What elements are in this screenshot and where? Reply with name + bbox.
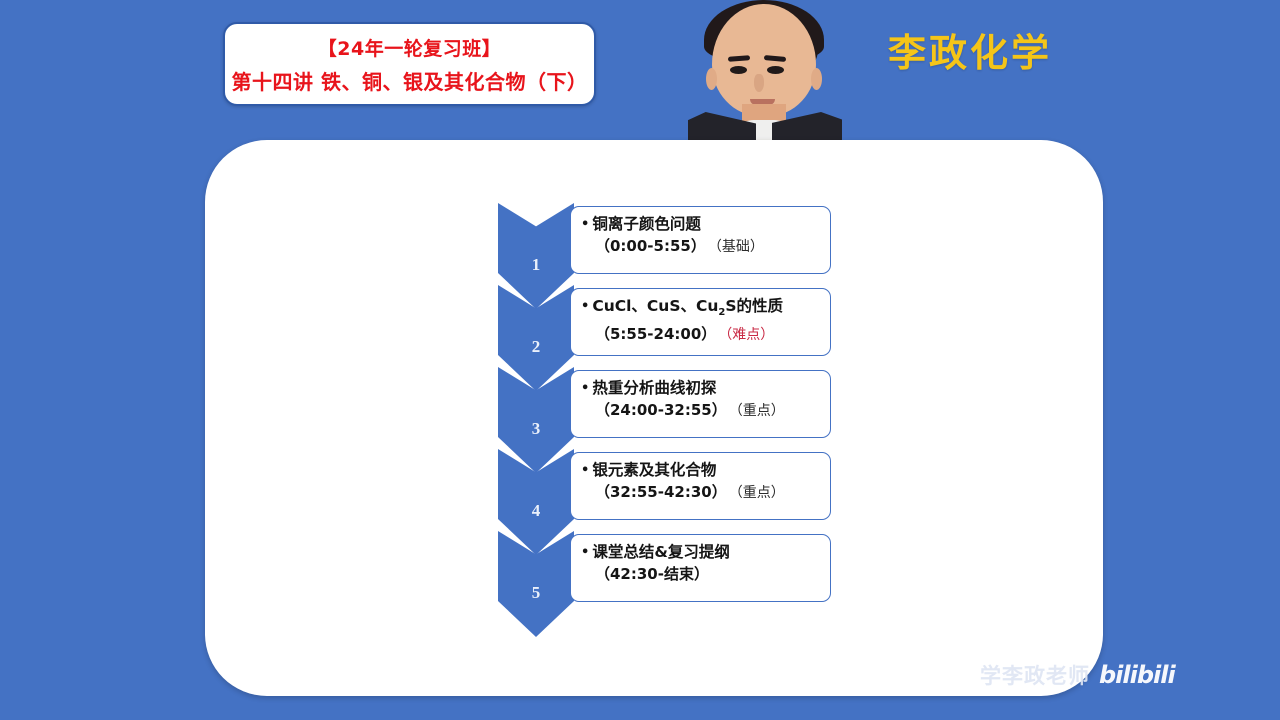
agenda-time-row-5: （42:30-结束） <box>581 563 822 587</box>
agenda-number-1: 1 <box>498 255 574 275</box>
bullet-icon-2: • <box>581 297 589 317</box>
presenter-ear-left-icon <box>706 68 717 90</box>
agenda-item-4[interactable]: 4 •银元素及其化合物 （32:55-42:30）（重点） <box>498 449 833 531</box>
agenda-content-3: •热重分析曲线初探 （24:00-32:55）（重点） <box>570 370 831 438</box>
watermark-text: 学李政老师 <box>980 660 1090 690</box>
bilibili-logo-icon: bilibili <box>1099 661 1175 689</box>
lecture-title-label: 第十四讲 铁、铜、银及其化合物（下） <box>232 66 588 95</box>
agenda-timecode-5: （42:30-结束） <box>595 565 709 583</box>
bullet-icon-1: • <box>581 215 589 235</box>
course-series-label: 【24年一轮复习班】 <box>318 34 501 61</box>
agenda-content-2: •CuCl、CuS、Cu2S的性质 （5:55-24:00）（难点） <box>570 288 831 356</box>
agenda-topic-2-pre: CuCl、CuS、Cu <box>592 297 718 315</box>
agenda-timecode-4: （32:55-42:30） <box>595 483 727 501</box>
agenda-tag-4: （重点） <box>736 486 785 501</box>
agenda-content-5: •课堂总结&复习提纲 （42:30-结束） <box>570 534 831 602</box>
agenda-item-5[interactable]: 5 •课堂总结&复习提纲 （42:30-结束） <box>498 531 833 613</box>
bullet-icon-3: • <box>581 379 589 399</box>
agenda-content-1: •铜离子颜色问题 （0:00-5:55）（基础） <box>570 206 831 274</box>
presenter-ear-right-icon <box>811 68 822 90</box>
presenter-video-overlay <box>684 0 844 142</box>
agenda-tag-1: （基础） <box>715 240 764 255</box>
lecture-title-badge: 【24年一轮复习班】 第十四讲 铁、铜、银及其化合物（下） <box>223 22 596 106</box>
agenda-topic-row-2: •CuCl、CuS、Cu2S的性质 <box>581 296 822 323</box>
agenda-item-3[interactable]: 3 •热重分析曲线初探 （24:00-32:55）（重点） <box>498 367 833 449</box>
agenda-topic-row-5: •课堂总结&复习提纲 <box>581 542 822 563</box>
agenda-topic-row-4: •银元素及其化合物 <box>581 460 822 481</box>
agenda-topic-row-1: •铜离子颜色问题 <box>581 214 822 235</box>
agenda-topic-row-3: •热重分析曲线初探 <box>581 378 822 399</box>
agenda-number-3: 3 <box>498 419 574 439</box>
bullet-icon-5: • <box>581 543 589 563</box>
agenda-tag-3: （重点） <box>736 404 785 419</box>
agenda-number-5: 5 <box>498 583 574 603</box>
agenda-list: 1 •铜离子颜色问题 （0:00-5:55）（基础） 2 •CuCl、CuS、C… <box>498 203 833 641</box>
agenda-time-row-3: （24:00-32:55）（重点） <box>581 399 822 423</box>
agenda-time-row-4: （32:55-42:30）（重点） <box>581 481 822 505</box>
brand-name-label: 李政化学 <box>888 22 1052 77</box>
agenda-time-row-1: （0:00-5:55）（基础） <box>581 235 822 259</box>
agenda-number-4: 4 <box>498 501 574 521</box>
presenter-eye-right-icon <box>767 66 784 74</box>
agenda-topic-2-post: S的性质 <box>725 297 783 315</box>
agenda-content-4: •银元素及其化合物 （32:55-42:30）（重点） <box>570 452 831 520</box>
agenda-timecode-3: （24:00-32:55） <box>595 401 727 419</box>
agenda-item-1[interactable]: 1 •铜离子颜色问题 （0:00-5:55）（基础） <box>498 203 833 285</box>
agenda-number-2: 2 <box>498 337 574 357</box>
presenter-eye-left-icon <box>730 66 747 74</box>
bullet-icon-4: • <box>581 461 589 481</box>
agenda-timecode-1: （0:00-5:55） <box>595 237 706 255</box>
agenda-topic-3: 热重分析曲线初探 <box>592 379 716 397</box>
watermark: 学李政老师 bilibili <box>980 660 1175 690</box>
agenda-tag-2: （难点） <box>725 328 774 343</box>
agenda-topic-5: 课堂总结&复习提纲 <box>592 543 730 561</box>
agenda-item-2[interactable]: 2 •CuCl、CuS、Cu2S的性质 （5:55-24:00）（难点） <box>498 285 833 367</box>
presenter-nose-icon <box>754 74 764 92</box>
agenda-timecode-2: （5:55-24:00） <box>595 325 716 343</box>
agenda-topic-1: 铜离子颜色问题 <box>592 215 701 233</box>
agenda-topic-4: 银元素及其化合物 <box>592 461 716 479</box>
agenda-time-row-2: （5:55-24:00）（难点） <box>581 323 822 347</box>
